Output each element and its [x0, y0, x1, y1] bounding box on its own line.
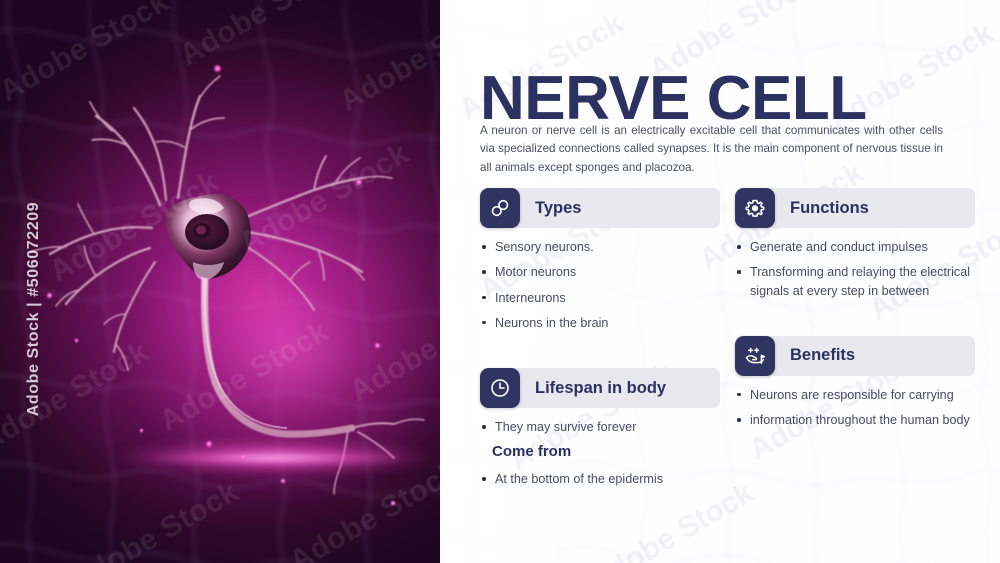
list-item: information throughout the human body: [735, 411, 975, 429]
list-item: Sensory neurons.: [480, 238, 720, 256]
card-benefits: Benefits Neurons are responsible for car…: [735, 336, 975, 430]
glow-particle: [280, 478, 286, 484]
card-title-benefits: Benefits: [790, 346, 855, 365]
cards-column-left: Types Sensory neurons. Motor neurons Int…: [480, 188, 720, 496]
list-item: Neurons are responsible for carrying: [735, 386, 975, 404]
list-item: Generate and conduct impulses: [735, 238, 975, 256]
glow-particle: [390, 500, 396, 506]
glow-particle: [213, 64, 222, 73]
card-list-lifespan-before: They may survive forever: [480, 418, 720, 436]
glow-particle: [74, 338, 79, 343]
card-title-functions: Functions: [790, 199, 869, 218]
list-item: Transforming and relaying the electrical…: [735, 263, 975, 300]
glow-particle: [355, 178, 363, 186]
gear-icon: [735, 188, 775, 228]
card-title-lifespan: Lifespan in body: [535, 379, 666, 398]
glow-particle: [240, 454, 246, 460]
cards-column-right: Functions Generate and conduct impulses …: [735, 188, 975, 436]
card-list-lifespan-after: At the bottom of the epidermis: [480, 470, 720, 488]
content-panel: Adobe Stock Adobe Stock Adobe Stock Adob…: [440, 0, 1000, 563]
hand-plus-icon: [735, 336, 775, 376]
card-header-functions: Functions: [735, 188, 975, 228]
glow-particle: [374, 342, 381, 349]
card-lifespan: Lifespan in body They may survive foreve…: [480, 368, 720, 489]
list-item: Neurons in the brain: [480, 314, 720, 332]
list-item: Interneurons: [480, 289, 720, 307]
card-header-types: Types: [480, 188, 720, 228]
glow-particle: [46, 292, 53, 299]
two-circles-icon: [480, 188, 520, 228]
card-list-types: Sensory neurons. Motor neurons Interneur…: [480, 238, 720, 332]
neuron-figure: [0, 0, 440, 563]
glow-particle: [139, 428, 144, 433]
infographic-stage: Adobe Stock Adobe Stock Adobe Stock Adob…: [0, 0, 1000, 563]
page-title: NERVE CELL: [480, 68, 867, 130]
card-title-types: Types: [535, 199, 581, 218]
card-types: Types Sensory neurons. Motor neurons Int…: [480, 188, 720, 332]
neuron-illustration-panel: Adobe Stock Adobe Stock Adobe Stock Adob…: [0, 0, 440, 563]
glow-particle: [205, 440, 213, 448]
ground-glow-core: [150, 452, 400, 464]
card-list-functions: Generate and conduct impulses Transformi…: [735, 238, 975, 300]
list-item: They may survive forever: [480, 418, 720, 436]
intro-paragraph: A neuron or nerve cell is an electricall…: [480, 122, 943, 178]
card-header-lifespan: Lifespan in body: [480, 368, 720, 408]
list-item: At the bottom of the epidermis: [480, 470, 720, 488]
subheading-come-from: Come from: [492, 443, 720, 460]
card-functions: Functions Generate and conduct impulses …: [735, 188, 975, 300]
list-item: Motor neurons: [480, 263, 720, 281]
adobe-stock-credit: Adobe Stock | #506072209: [25, 179, 43, 439]
clock-icon: [480, 368, 520, 408]
card-list-benefits: Neurons are responsible for carrying inf…: [735, 386, 975, 430]
card-header-benefits: Benefits: [735, 336, 975, 376]
